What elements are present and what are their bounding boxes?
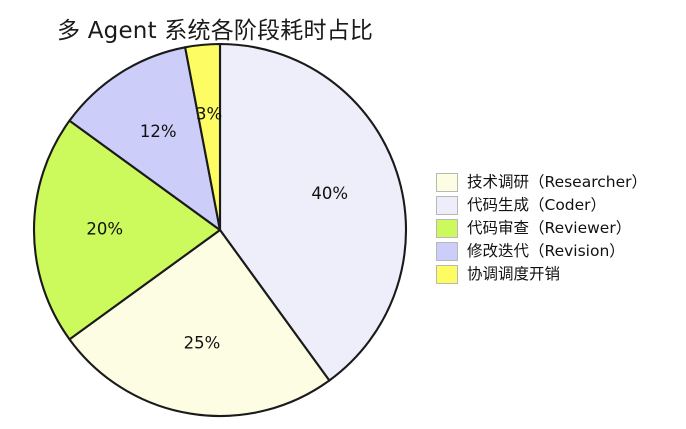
chart-legend: 技术调研（Researcher）代码生成（Coder）代码审查（Reviewer… — [436, 171, 647, 286]
legend-item-label: 协调调度开销 — [467, 267, 560, 283]
legend-item[interactable]: 代码生成（Coder） — [436, 194, 647, 217]
legend-color-swatch — [436, 219, 458, 238]
pie-slice-label: 40% — [311, 184, 348, 203]
legend-item-label: 代码生成（Coder） — [467, 198, 606, 214]
legend-color-swatch — [436, 242, 458, 261]
pie-slice-label: 20% — [86, 220, 123, 239]
legend-color-swatch — [436, 196, 458, 215]
legend-item[interactable]: 协调调度开销 — [436, 263, 647, 286]
pie-slice-label: 25% — [184, 333, 221, 352]
legend-color-swatch — [436, 173, 458, 192]
pie-slice-label: 3% — [196, 105, 222, 124]
legend-item-label: 修改迭代（Revision） — [467, 244, 625, 260]
legend-item-label: 技术调研（Researcher） — [467, 175, 647, 191]
legend-item-label: 代码审查（Reviewer） — [467, 221, 631, 237]
pie-chart-figure: 多 Agent 系统各阶段耗时占比 40%25%20%12%3% 技术调研（Re… — [0, 0, 686, 429]
legend-item[interactable]: 技术调研（Researcher） — [436, 171, 647, 194]
legend-color-swatch — [436, 265, 458, 284]
pie-slice-label: 12% — [140, 122, 177, 141]
legend-item[interactable]: 代码审查（Reviewer） — [436, 217, 647, 240]
legend-item[interactable]: 修改迭代（Revision） — [436, 240, 647, 263]
